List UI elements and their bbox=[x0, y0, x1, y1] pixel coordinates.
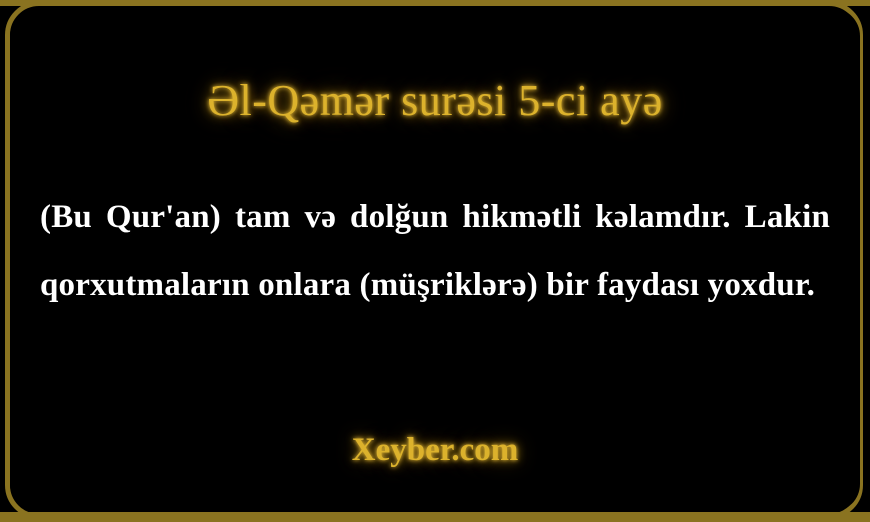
page-title: Əl-Qəmər surəsi 5-ci ayə bbox=[10, 75, 860, 126]
verse-text: (Bu Qur'an) tam və dolğun hikmətli kəlam… bbox=[40, 183, 830, 319]
top-gold-band bbox=[0, 0, 870, 6]
verse-card: Əl-Qəmər surəsi 5-ci ayə (Bu Qur'an) tam… bbox=[0, 0, 870, 522]
site-watermark: Xeyber.com bbox=[10, 432, 860, 469]
bottom-gold-band bbox=[0, 512, 870, 522]
card-inner-surface: Əl-Qəmər surəsi 5-ci ayə (Bu Qur'an) tam… bbox=[10, 8, 860, 512]
